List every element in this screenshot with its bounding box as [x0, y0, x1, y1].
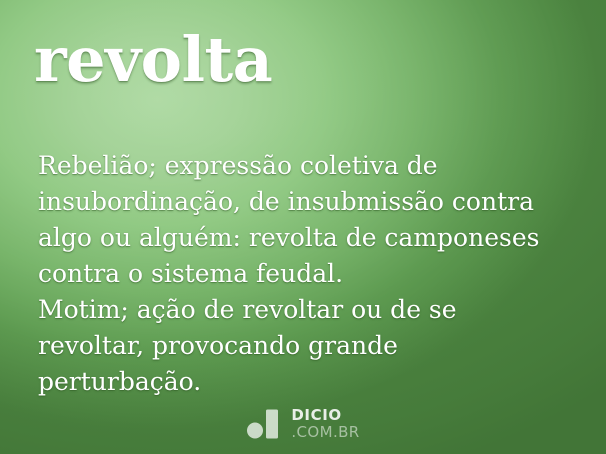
dicio-logo: DICIO .COM.BR: [0, 408, 606, 440]
dicio-brand-domain: .COM.BR: [291, 425, 359, 440]
dicio-brand-name: DICIO: [291, 408, 359, 423]
definition-sense-2: Motim; ação de revoltar ou de se revolta…: [38, 292, 554, 400]
dicio-circle-bar-icon: [246, 409, 282, 439]
page-title: revolta: [34, 24, 272, 96]
definition-sense-1: Rebelião; expressão coletiva de insubord…: [38, 148, 554, 292]
definition-card: revolta Rebelião; expressão coletiva de …: [0, 0, 606, 454]
definition-text: Rebelião; expressão coletiva de insubord…: [38, 148, 554, 400]
dicio-logo-text: DICIO .COM.BR: [291, 408, 359, 440]
card-content: revolta Rebelião; expressão coletiva de …: [0, 0, 606, 454]
